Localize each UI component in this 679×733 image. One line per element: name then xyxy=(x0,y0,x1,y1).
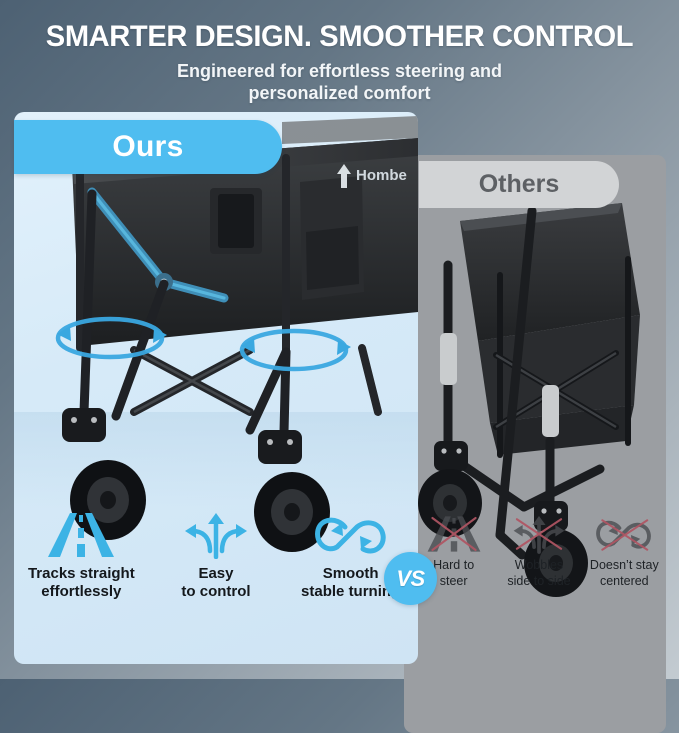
others-badge-label: Others xyxy=(479,170,560,199)
header: SMARTER DESIGN. SMOOTHER CONTROL Enginee… xyxy=(0,0,679,105)
ours-feature-tracks-straight: Tracks straight effortlessly xyxy=(19,507,143,601)
feature-line-2: effortlessly xyxy=(19,583,143,601)
ours-badge-label: Ours xyxy=(112,130,183,164)
ours-feature-list: Tracks straight effortlessly Easy xyxy=(14,507,418,601)
lane-road-crossed-icon xyxy=(412,512,496,554)
subtitle-line-1: Engineered for effortless steering and xyxy=(0,61,679,83)
page-subtitle: Engineered for effortless steering and p… xyxy=(0,61,679,105)
lane-road-icon xyxy=(19,507,143,559)
others-feature-label: Wobbles side to side xyxy=(497,558,581,589)
ours-feature-label: Easy to control xyxy=(154,565,278,601)
feature-line-1: Wobbles xyxy=(497,558,581,574)
multi-arrow-icon xyxy=(154,507,278,559)
infinity-arrows-icon xyxy=(289,507,413,559)
ours-badge: Ours xyxy=(14,120,282,174)
feature-line-1: Doesn’t stay xyxy=(582,558,666,574)
ours-feature-easy-control: Easy to control xyxy=(154,507,278,601)
others-feature-not-centered: Doesn’t stay centered xyxy=(582,512,666,589)
comparison-panels: Hombe xyxy=(0,112,679,672)
vs-badge-label: VS xyxy=(396,566,424,592)
page-title: SMARTER DESIGN. SMOOTHER CONTROL xyxy=(10,20,669,54)
others-feature-list: Hard to steer xyxy=(411,512,667,589)
feature-line-1: Easy xyxy=(154,565,278,583)
multi-arrow-crossed-icon xyxy=(497,512,581,554)
feature-line-1: Tracks straight xyxy=(19,565,143,583)
feature-line-2: side to side xyxy=(497,574,581,590)
others-feature-wobbles: Wobbles side to side xyxy=(497,512,581,589)
vs-badge: VS xyxy=(384,552,437,605)
others-feature-label: Doesn’t stay centered xyxy=(582,558,666,589)
others-wagon-illustration xyxy=(404,155,666,733)
infinity-arrows-crossed-icon xyxy=(582,512,666,554)
feature-line-2: centered xyxy=(582,574,666,590)
feature-line-2: to control xyxy=(154,583,278,601)
svg-text:Hombe: Hombe xyxy=(356,167,407,184)
subtitle-line-2: personalized comfort xyxy=(0,83,679,105)
others-badge: Others xyxy=(419,161,619,208)
others-panel xyxy=(404,155,666,733)
ours-feature-label: Tracks straight effortlessly xyxy=(19,565,143,601)
swivel-rotation-arrow-right xyxy=(242,331,346,369)
